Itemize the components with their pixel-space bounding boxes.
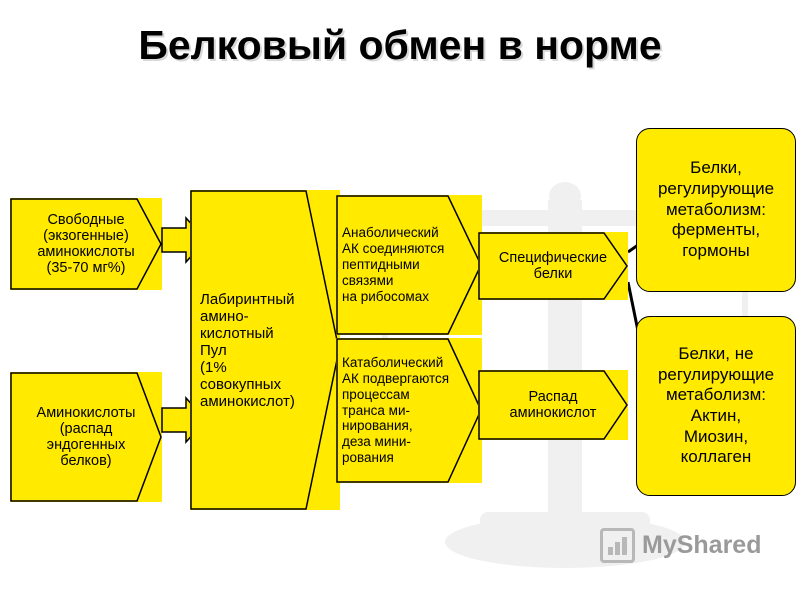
pool-line-4: Пул (200, 342, 227, 359)
specific-line-1: Специфические (499, 250, 607, 266)
shape-specific-proteins: Специфические белки (478, 232, 628, 300)
nonregulating-line-6: коллаген (681, 447, 752, 466)
regulating-line-5: гормоны (682, 241, 750, 260)
nonregulating-line-1: Белки, не (678, 344, 753, 363)
shape-catabolic-process: Катаболический АК подвергаются процессам… (336, 338, 482, 483)
anabolic-line-5: на рибосомах (342, 289, 429, 304)
catabolic-line-4: транса ми- (342, 403, 410, 418)
catabolic-line-5: нирования, (342, 418, 413, 433)
catabolic-line-6: деза мини- (342, 434, 411, 449)
nonregulating-line-5: Миозин, (684, 427, 748, 446)
pool-line-3: кислотный (200, 325, 274, 342)
catabolic-line-2: АК подвергаются (342, 371, 449, 386)
nonregulating-line-4: Актин, (691, 406, 741, 425)
shape-amino-acid-breakdown: Распад аминокислот (478, 370, 628, 440)
pool-line-1: Лабиринтный (200, 291, 294, 308)
nonregulating-line-3: метаболизм: (666, 385, 766, 404)
regulating-line-2: регулирующие (658, 179, 774, 198)
anabolic-line-2: АК соединяются (342, 241, 444, 256)
shape-nonregulating-proteins: Белки, не регулирующие метаболизм: Актин… (636, 316, 796, 496)
catabolic-line-7: рования (342, 450, 394, 465)
breakdown-line-1: Распад (529, 389, 578, 405)
catabolic-line-1: Катаболический (342, 355, 443, 370)
nonregulating-line-2: регулирующие (658, 365, 774, 384)
anabolic-line-4: связями (342, 273, 393, 288)
specific-line-2: белки (534, 266, 573, 282)
catabolic-line-3: процессам (342, 387, 410, 402)
pool-line-5: (1% (200, 359, 227, 376)
pool-line-2: амино- (200, 308, 249, 325)
myshared-logo-text: MyShared (642, 531, 761, 560)
pool-line-6: совокупных (200, 376, 281, 393)
anabolic-line-1: Анаболический (342, 225, 439, 240)
slide-canvas: Белковый обмен в норме Свободные (экзоге… (0, 0, 800, 600)
shape-regulating-proteins: Белки, регулирующие метаболизм: ферменты… (636, 128, 796, 292)
breakdown-line-2: аминокислот (510, 405, 597, 421)
regulating-line-1: Белки, (690, 158, 742, 177)
myshared-logo: MyShared (600, 528, 761, 563)
bar-chart-icon (600, 528, 635, 563)
shape-anabolic-process: Анаболический АК соединяются пептидными … (336, 195, 482, 335)
anabolic-line-3: пептидными (342, 257, 420, 272)
pool-line-7: аминокислот) (200, 393, 295, 410)
shape-amino-acid-pool: Лабиринтный амино- кислотный Пул (1% сов… (190, 190, 340, 510)
regulating-line-4: ферменты, (672, 220, 760, 239)
regulating-line-3: метаболизм: (666, 200, 766, 219)
